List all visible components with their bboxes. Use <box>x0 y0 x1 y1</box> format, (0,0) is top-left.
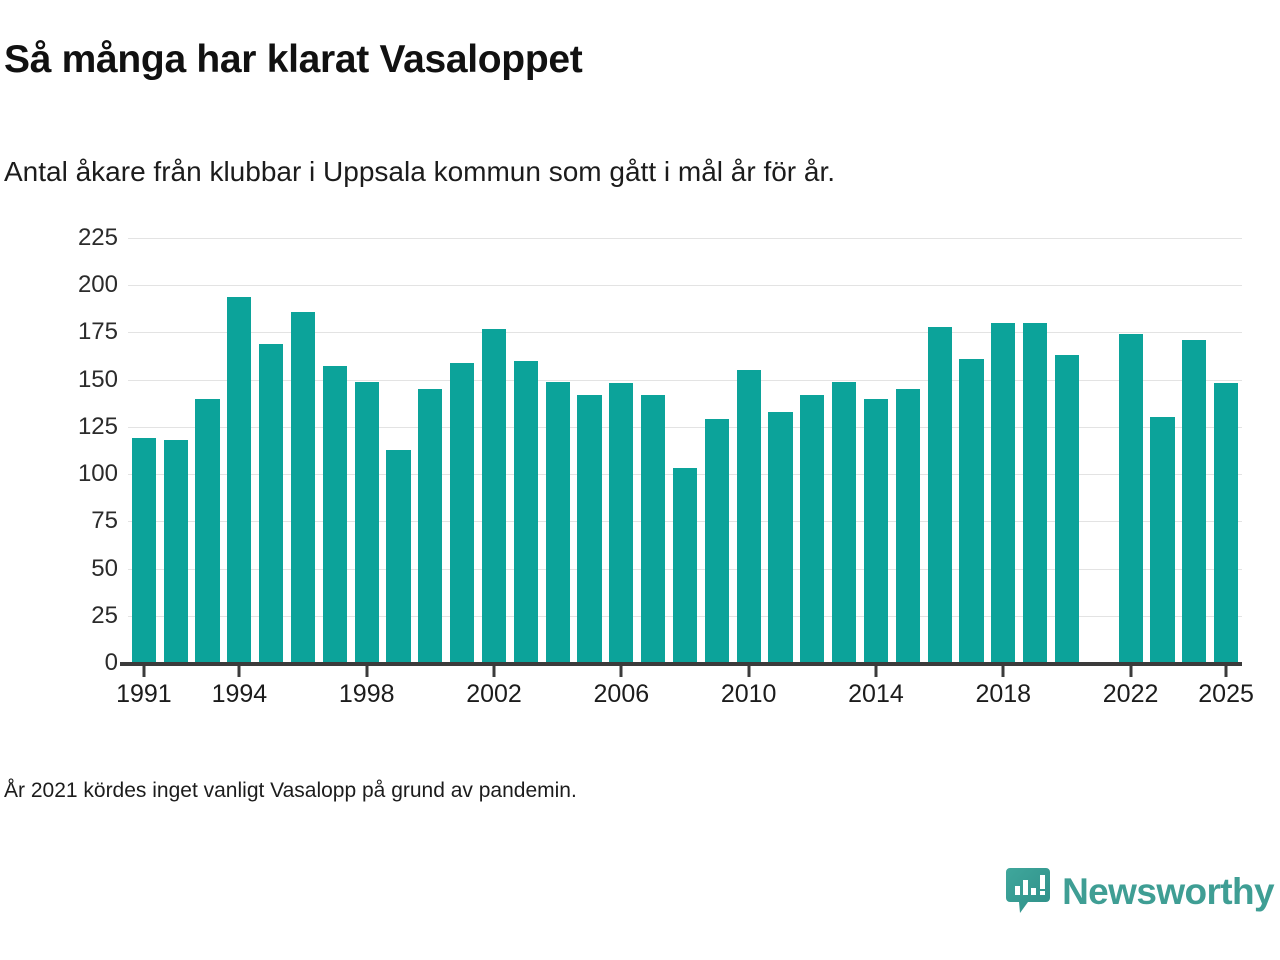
chart-page: Så många har klarat Vasaloppet Antal åka… <box>0 0 1280 960</box>
page-subtitle: Antal åkare från klubbar i Uppsala kommu… <box>4 156 835 188</box>
bar-1998[interactable] <box>355 382 379 663</box>
x-axis-tick <box>747 663 750 677</box>
x-axis-tick <box>365 663 368 677</box>
bar-2004[interactable] <box>546 382 570 663</box>
x-axis-tick-label: 2014 <box>848 680 904 709</box>
bar-2017[interactable] <box>959 359 983 663</box>
x-axis-labels: 1991199419982002200620102014201820222025 <box>128 680 1242 720</box>
bar-1995[interactable] <box>259 344 283 663</box>
x-axis-tick <box>874 663 877 677</box>
bar-2022[interactable] <box>1119 334 1143 663</box>
bar-2001[interactable] <box>450 363 474 663</box>
newsworthy-logo-text: Newsworthy <box>1062 873 1274 910</box>
y-axis-tick-label: 150 <box>78 366 118 394</box>
x-axis-tick-label: 2018 <box>975 680 1031 709</box>
bar-2016[interactable] <box>928 327 952 663</box>
y-axis-tick-label: 125 <box>78 413 118 441</box>
y-axis-tick-label: 200 <box>78 271 118 299</box>
newsworthy-bar-chart-speech-bubble-icon <box>1006 868 1050 914</box>
bar-2018[interactable] <box>991 323 1015 663</box>
newsworthy-logo[interactable]: Newsworthy <box>1006 868 1274 914</box>
bar-2005[interactable] <box>577 395 601 663</box>
x-axis-tick-label: 2010 <box>721 680 777 709</box>
bar-2013[interactable] <box>832 382 856 663</box>
bar-2000[interactable] <box>418 389 442 663</box>
x-axis-tick-label: 2022 <box>1103 680 1159 709</box>
bar-chart: 0255075100125150175200225 19911994199820… <box>0 222 1250 722</box>
y-axis-tick-label: 25 <box>91 602 118 630</box>
x-axis-tick-label: 1994 <box>212 680 268 709</box>
x-axis-tick <box>1129 663 1132 677</box>
x-axis-tick-label: 1998 <box>339 680 395 709</box>
bar-1994[interactable] <box>227 297 251 663</box>
bar-2006[interactable] <box>609 383 633 663</box>
bar-2019[interactable] <box>1023 323 1047 663</box>
bar-2011[interactable] <box>768 412 792 663</box>
bar-1992[interactable] <box>164 440 188 663</box>
bar-1993[interactable] <box>195 399 219 663</box>
x-axis-tick <box>493 663 496 677</box>
x-axis-tick <box>1002 663 1005 677</box>
x-axis-tick <box>1225 663 1228 677</box>
y-axis-tick-label: 100 <box>78 460 118 488</box>
bar-2003[interactable] <box>514 361 538 663</box>
bar-1996[interactable] <box>291 312 315 663</box>
y-axis-tick-label: 175 <box>78 318 118 346</box>
page-title: Så många har klarat Vasaloppet <box>4 38 582 82</box>
bar-1999[interactable] <box>386 450 410 663</box>
bar-2012[interactable] <box>800 395 824 663</box>
x-axis-tick-label: 2002 <box>466 680 522 709</box>
bar-2015[interactable] <box>896 389 920 663</box>
plot-area <box>128 238 1242 663</box>
x-axis-tick <box>238 663 241 677</box>
bar-2014[interactable] <box>864 399 888 663</box>
bar-2024[interactable] <box>1182 340 1206 663</box>
bar-1991[interactable] <box>132 438 156 663</box>
bar-2008[interactable] <box>673 468 697 663</box>
x-axis-tick-label: 2006 <box>594 680 650 709</box>
x-axis-ticks <box>128 663 1242 677</box>
bar-2009[interactable] <box>705 419 729 663</box>
bar-2007[interactable] <box>641 395 665 663</box>
bar-series <box>128 238 1242 663</box>
bar-1997[interactable] <box>323 366 347 663</box>
y-axis-tick-label: 0 <box>105 649 118 677</box>
x-axis-tick-label: 2025 <box>1198 680 1254 709</box>
y-axis-tick-label: 225 <box>78 224 118 252</box>
bar-2020[interactable] <box>1055 355 1079 663</box>
y-axis-tick-label: 50 <box>91 555 118 583</box>
bar-2025[interactable] <box>1214 383 1238 663</box>
y-axis-tick-label: 75 <box>91 507 118 535</box>
chart-footnote: År 2021 kördes inget vanligt Vasalopp på… <box>4 779 577 803</box>
x-axis-tick <box>142 663 145 677</box>
bar-2010[interactable] <box>737 370 761 663</box>
bar-2023[interactable] <box>1150 417 1174 663</box>
x-axis-tick-label: 1991 <box>116 680 172 709</box>
y-axis-labels: 0255075100125150175200225 <box>0 238 118 663</box>
bar-2002[interactable] <box>482 329 506 663</box>
x-axis-tick <box>620 663 623 677</box>
